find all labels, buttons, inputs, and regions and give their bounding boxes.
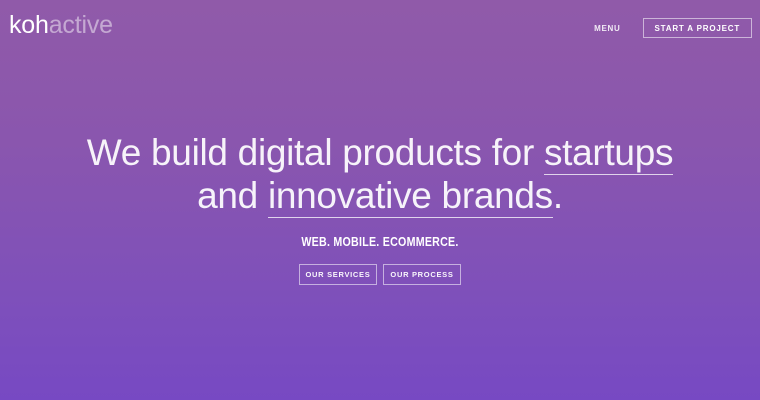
- headline-segment-5: .: [553, 175, 563, 216]
- logo-text-secondary: active: [49, 11, 113, 39]
- hero-headline: We build digital products for startups a…: [0, 131, 760, 217]
- headline-segment-1: We build digital products for: [87, 132, 544, 173]
- our-services-button[interactable]: OUR SERVICES: [299, 264, 377, 285]
- menu-button[interactable]: MENU: [594, 19, 620, 38]
- headline-segment-3: and: [197, 175, 268, 216]
- hero-cta-row: OUR SERVICES OUR PROCESS: [0, 264, 760, 285]
- hero-content: We build digital products for startups a…: [0, 131, 760, 285]
- headline-link-startups[interactable]: startups: [544, 132, 673, 175]
- hero-section: kohactive MENU START A PROJECT We build …: [0, 0, 760, 400]
- header-nav: MENU START A PROJECT: [594, 18, 752, 38]
- site-logo[interactable]: kohactive: [9, 11, 113, 39]
- logo-text-primary: koh: [9, 11, 49, 39]
- start-a-project-button[interactable]: START A PROJECT: [643, 18, 752, 38]
- headline-link-innovative-brands[interactable]: innovative brands: [268, 175, 553, 218]
- site-header: kohactive MENU START A PROJECT: [0, 0, 760, 56]
- our-process-button[interactable]: OUR PROCESS: [383, 264, 461, 285]
- hero-tagline: WEB. MOBILE. ECOMMERCE.: [68, 235, 691, 249]
